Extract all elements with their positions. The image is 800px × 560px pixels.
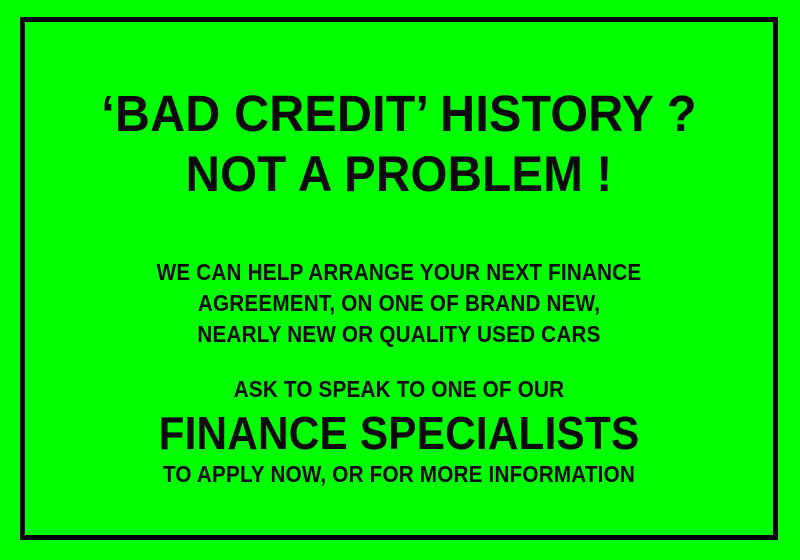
body-paragraph-line-1: WE CAN HELP ARRANGE YOUR NEXT FINANCE (62, 257, 735, 288)
body-paragraph-line-2: AGREEMENT, ON ONE OF BRAND NEW, (62, 288, 735, 319)
call-to-action-emphasis-block: FINANCE SPECIALISTS (25, 407, 773, 459)
call-to-action-intro: ASK TO SPEAK TO ONE OF OUR (62, 374, 735, 404)
call-to-action-intro-block: ASK TO SPEAK TO ONE OF OUR (25, 374, 773, 404)
call-to-action-emphasis: FINANCE SPECIALISTS (55, 407, 743, 459)
call-to-action-footer: TO APPLY NOW, OR FOR MORE INFORMATION (62, 459, 735, 489)
body-paragraph-line-3: NEARLY NEW OR QUALITY USED CARS (62, 319, 735, 350)
body-paragraph-block: WE CAN HELP ARRANGE YOUR NEXT FINANCE AG… (25, 257, 773, 350)
call-to-action-footer-block: TO APPLY NOW, OR FOR MORE INFORMATION (25, 459, 773, 489)
headline-line-1: ‘BAD CREDIT’ HISTORY ? (44, 84, 755, 144)
headline-block: ‘BAD CREDIT’ HISTORY ? NOT A PROBLEM ! (25, 84, 773, 204)
poster-content: ‘BAD CREDIT’ HISTORY ? NOT A PROBLEM ! W… (25, 22, 773, 535)
advertisement-poster: ‘BAD CREDIT’ HISTORY ? NOT A PROBLEM ! W… (0, 0, 800, 560)
headline-line-2: NOT A PROBLEM ! (44, 144, 755, 204)
